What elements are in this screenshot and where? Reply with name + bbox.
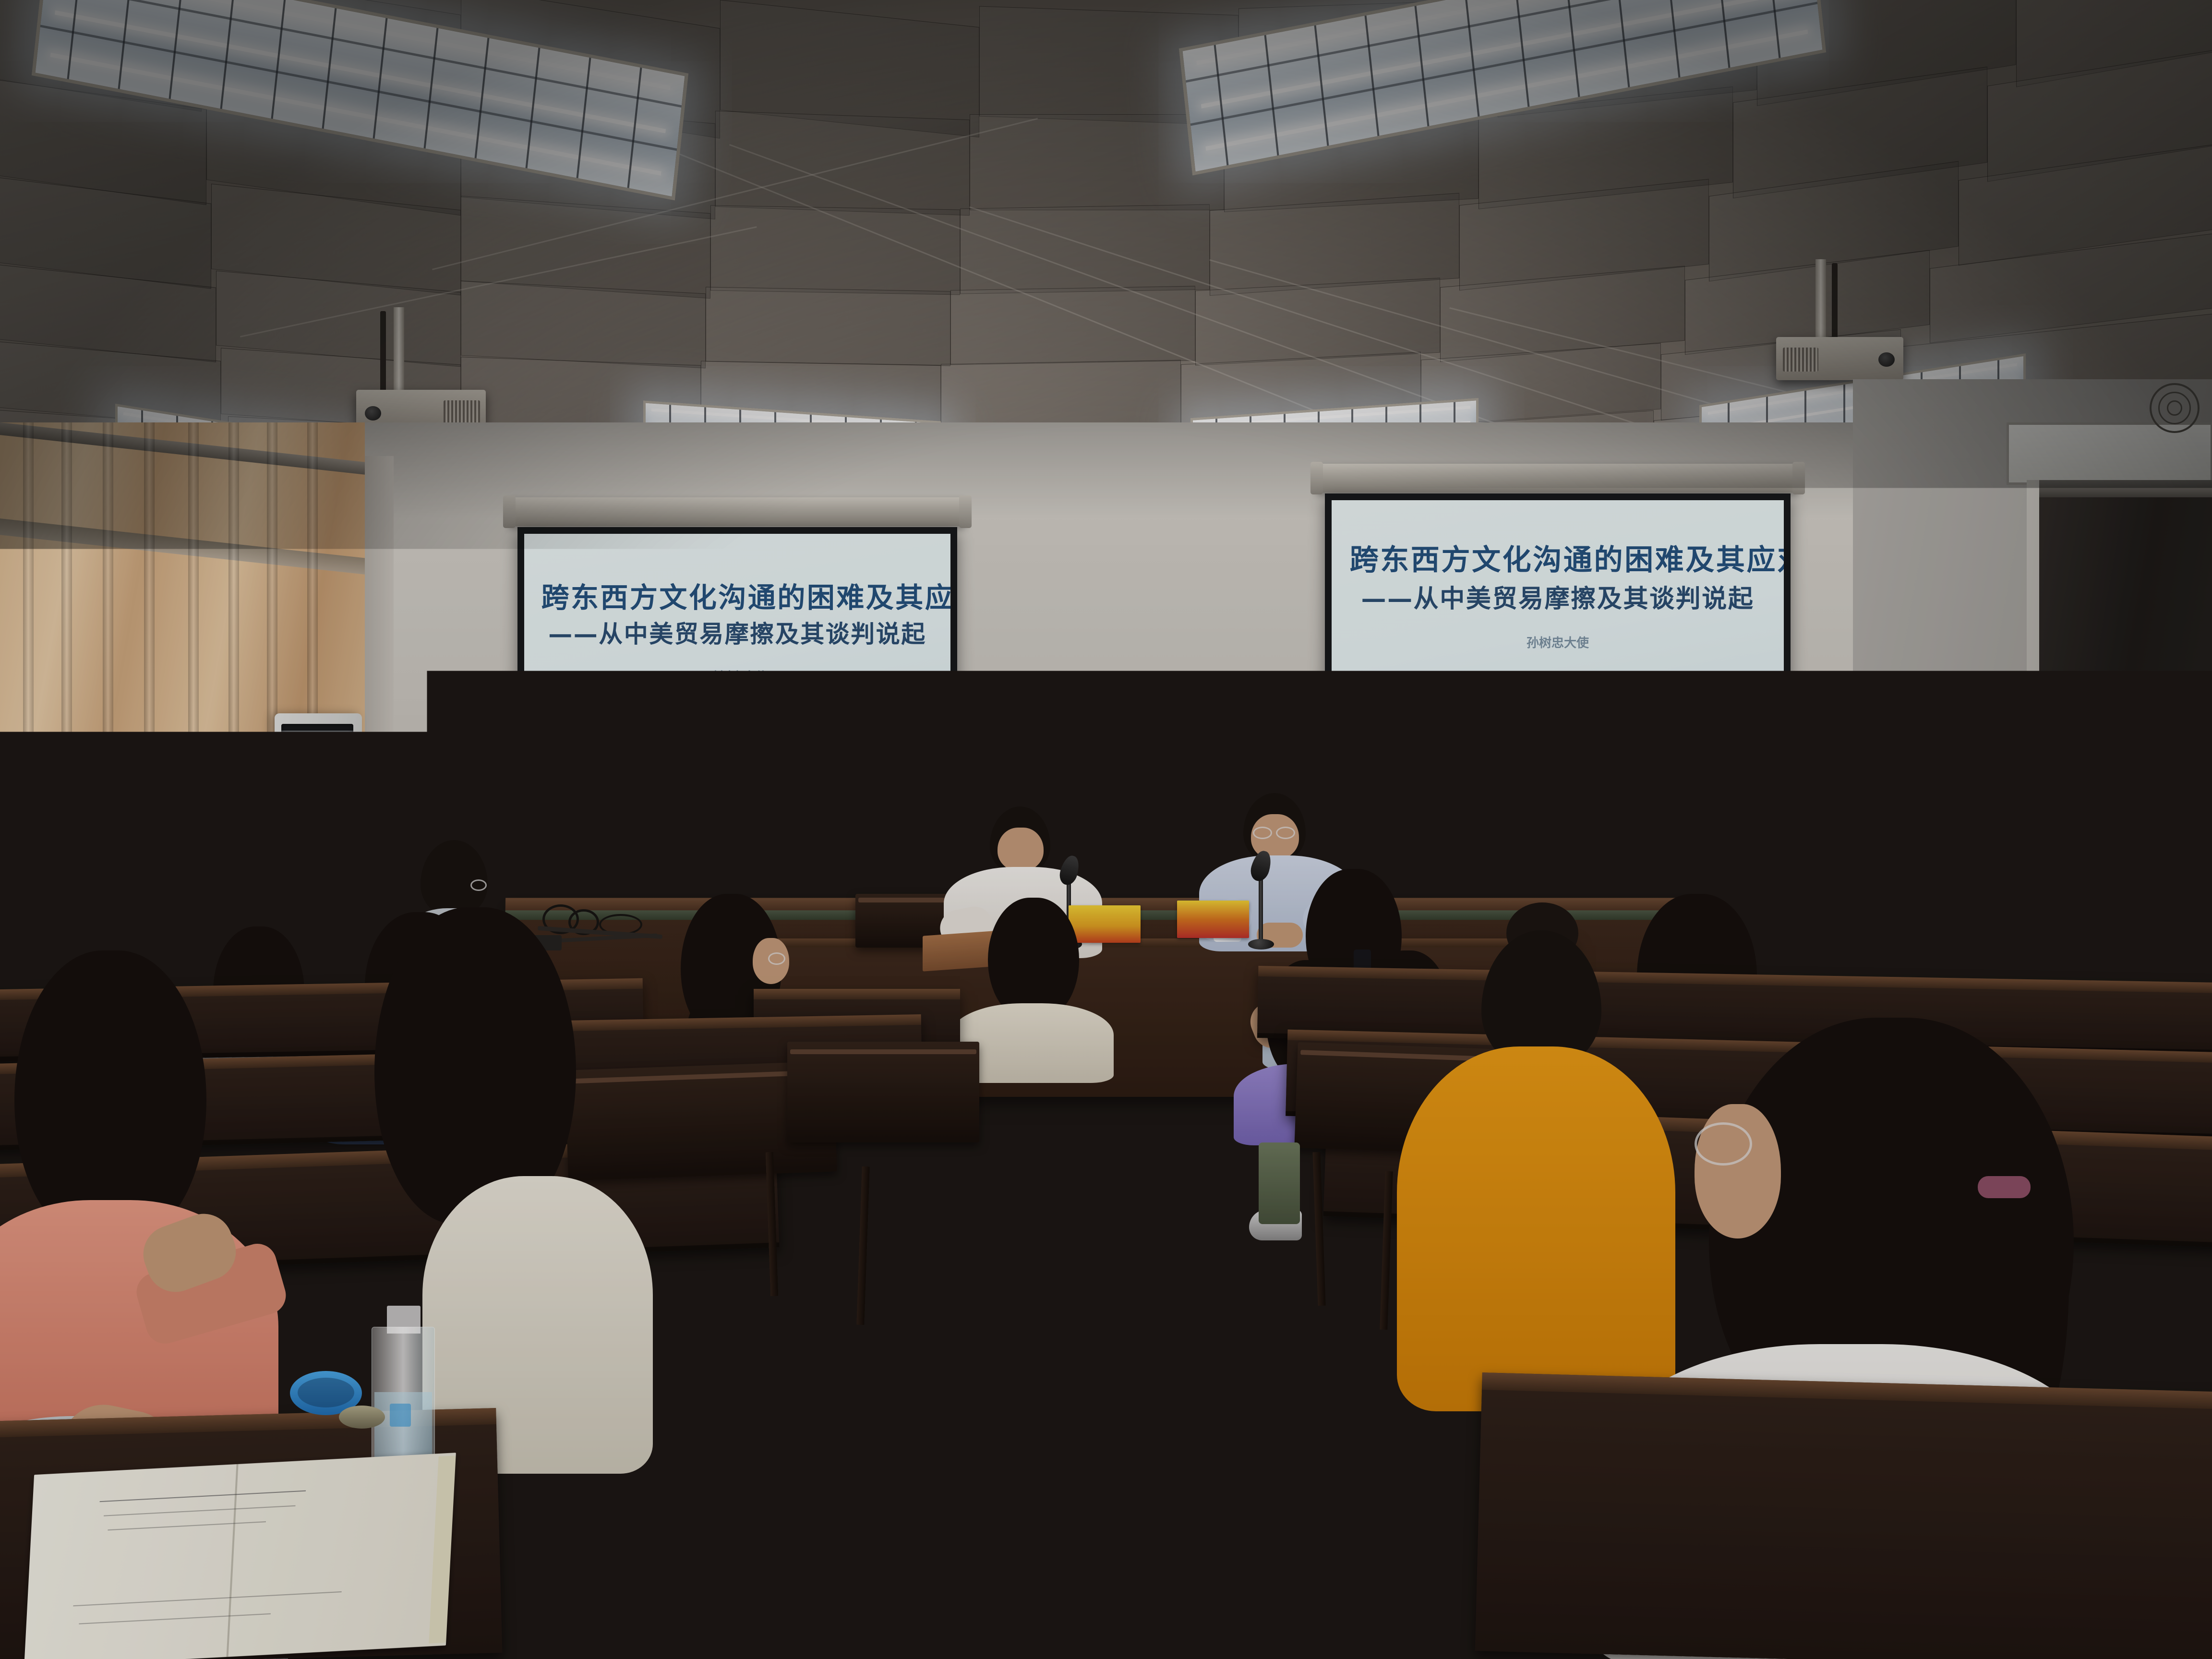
floor-outlet-plate [992,1413,1051,1431]
trouser-leg [1259,1142,1300,1224]
slide-subtitle-left: ——从中美贸易摩擦及其谈判说起 [541,615,934,649]
open-notebook[interactable] [24,1453,456,1659]
small-jar-lid[interactable] [339,1406,385,1429]
ceiling-projector [1776,337,1903,380]
projector-mount-pole [394,307,404,394]
ac-control-panel[interactable] [343,805,357,832]
slide-artwork [1332,706,1784,832]
slide-byline-right: 孙树忠大使 [1332,633,1784,651]
slide-title-right: 跨东西方文化沟通的困难及其应对 [1350,537,1766,578]
screen-housing [1316,464,1799,493]
name-card [1177,901,1249,938]
foreground-desk [1475,1372,2212,1659]
slide-artwork [524,737,950,852]
laptop[interactable] [2102,885,2212,975]
slide-title-left: 跨东西方文化沟通的困难及其应对 [541,575,934,615]
glass-water-bottle[interactable] [368,1302,439,1469]
laptop-screen [2104,888,2211,973]
eyeglasses [1253,827,1272,839]
left-projection-screen: 跨东西方文化沟通的困难及其应对 ——从中美贸易摩擦及其谈判说起 孙树忠大使 [517,527,957,858]
eyeglasses [1695,1122,1752,1166]
projector-mount-pole [1815,259,1826,341]
chair-back[interactable] [787,1042,979,1142]
wall-mounted-fan [2146,379,2208,437]
screen-housing [509,497,966,526]
ac-grille [281,724,353,797]
eyeglasses [1276,827,1295,839]
right-projection-screen: 跨东西方文化沟通的困难及其应对 ——从中美贸易摩擦及其谈判说起 孙树忠大使 [1325,493,1791,839]
slide-subtitle-right: ——从中美贸易摩擦及其谈判说起 [1350,578,1766,614]
slide-byline-left: 孙树忠大使 [524,667,950,685]
floor-outlet-plate [1137,1411,1196,1429]
lecture-hall-photo: 跨东西方文化沟通的困难及其应对 ——从中美贸易摩擦及其谈判说起 孙树忠大使 [0,0,2212,1659]
